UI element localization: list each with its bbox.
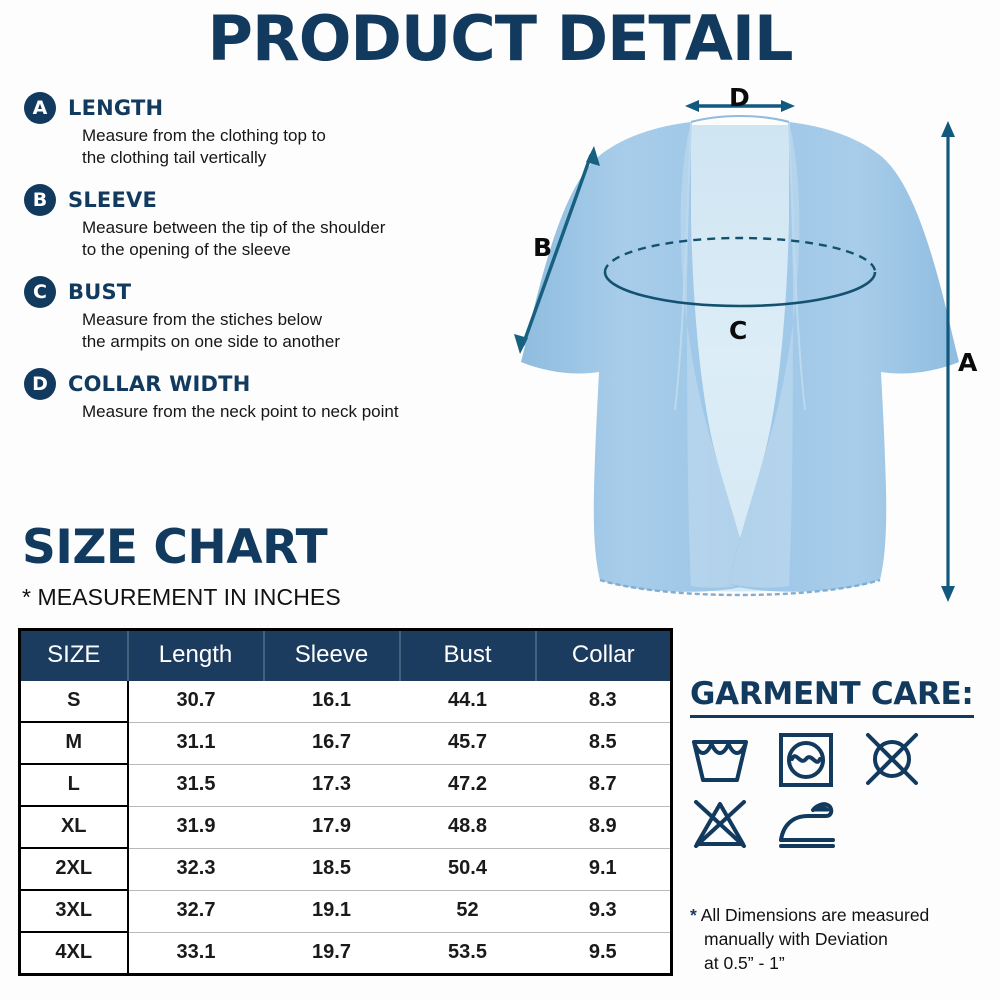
cell-length: 31.9 xyxy=(128,806,264,848)
table-row: L 31.5 17.3 47.2 8.7 xyxy=(20,764,672,806)
cell-length: 32.3 xyxy=(128,848,264,890)
table-row: M 31.1 16.7 45.7 8.5 xyxy=(20,722,672,764)
cell-collar: 9.5 xyxy=(536,932,672,975)
legend-badge-c: C xyxy=(24,276,56,308)
legend-desc-length: Measure from the clothing top to the clo… xyxy=(82,125,494,170)
neckline xyxy=(691,116,789,122)
table-row: S 30.7 16.1 44.1 8.3 xyxy=(20,681,672,722)
column-header-sleeve: Sleeve xyxy=(264,630,400,682)
legend-desc-line: Measure from the neck point to neck poin… xyxy=(82,401,494,423)
do-not-dry-clean-icon xyxy=(690,796,750,852)
legend-desc-bust: Measure from the stiches below the armpi… xyxy=(82,309,494,354)
dimension-label-a: A xyxy=(958,348,977,377)
legend-label-collar-width: COLLAR WIDTH xyxy=(68,368,494,400)
cell-length: 30.7 xyxy=(128,681,264,722)
iron-icon xyxy=(776,796,836,852)
column-header-bust: Bust xyxy=(400,630,536,682)
cell-size: M xyxy=(20,722,128,764)
legend-badge-b: B xyxy=(24,184,56,216)
hand-wash-icon xyxy=(690,732,750,788)
size-chart-title: SIZE CHART xyxy=(22,524,327,571)
care-icon-row-1 xyxy=(690,732,990,788)
dimension-label-d: D xyxy=(729,83,750,112)
cell-bust: 45.7 xyxy=(400,722,536,764)
table-header-row: SIZE Length Sleeve Bust Collar xyxy=(20,630,672,682)
note-line-1: All Dimensions are measured xyxy=(701,905,930,925)
cell-bust: 53.5 xyxy=(400,932,536,975)
table-row: 2XL 32.3 18.5 50.4 9.1 xyxy=(20,848,672,890)
legend-desc-sleeve: Measure between the tip of the shoulder … xyxy=(82,217,494,262)
legend-desc-line: the armpits on one side to another xyxy=(82,331,494,353)
cell-size: 4XL xyxy=(20,932,128,975)
cell-bust: 48.8 xyxy=(400,806,536,848)
cell-collar: 8.7 xyxy=(536,764,672,806)
garment-illustration xyxy=(495,80,1000,625)
cell-bust: 50.4 xyxy=(400,848,536,890)
legend-item-sleeve: B SLEEVE Measure between the tip of the … xyxy=(24,184,494,262)
cell-bust: 44.1 xyxy=(400,681,536,722)
cell-length: 33.1 xyxy=(128,932,264,975)
dimension-label-c: C xyxy=(729,316,747,345)
note-line-3: at 0.5” - 1” xyxy=(690,952,995,976)
legend-item-length: A LENGTH Measure from the clothing top t… xyxy=(24,92,494,170)
cell-sleeve: 18.5 xyxy=(264,848,400,890)
cell-bust: 47.2 xyxy=(400,764,536,806)
cell-size: 3XL xyxy=(20,890,128,932)
cell-sleeve: 19.7 xyxy=(264,932,400,975)
legend-desc-collar-width: Measure from the neck point to neck poin… xyxy=(82,401,494,423)
cell-sleeve: 19.1 xyxy=(264,890,400,932)
size-chart-subtitle: * MEASUREMENT IN INCHES xyxy=(22,584,341,611)
legend-label-bust: BUST xyxy=(68,276,494,308)
garment-care-title: GARMENT CARE: xyxy=(690,676,974,718)
legend-item-bust: C BUST Measure from the stiches below th… xyxy=(24,276,494,354)
legend-desc-line: Measure from the clothing top to xyxy=(82,125,494,147)
page-title: PRODUCT DETAIL xyxy=(0,8,1000,70)
table-row: 3XL 32.7 19.1 52 9.3 xyxy=(20,890,672,932)
legend-item-collar-width: D COLLAR WIDTH Measure from the neck poi… xyxy=(24,368,494,423)
cell-size: 2XL xyxy=(20,848,128,890)
cell-collar: 9.3 xyxy=(536,890,672,932)
kimono-diagram xyxy=(495,80,1000,625)
cell-size: L xyxy=(20,764,128,806)
legend-desc-line: to the opening of the sleeve xyxy=(82,239,494,261)
legend-label-length: LENGTH xyxy=(68,92,494,124)
measurement-legend: A LENGTH Measure from the clothing top t… xyxy=(24,92,494,437)
cell-collar: 8.5 xyxy=(536,722,672,764)
care-icon-row-2 xyxy=(690,796,990,852)
column-header-length: Length xyxy=(128,630,264,682)
do-not-bleach-icon xyxy=(862,732,922,788)
note-asterisk: * xyxy=(690,905,697,925)
cell-length: 31.5 xyxy=(128,764,264,806)
note-line-2: manually with Deviation xyxy=(690,928,995,952)
cell-size: XL xyxy=(20,806,128,848)
deviation-note: * All Dimensions are measured manually w… xyxy=(690,904,995,975)
legend-desc-line: Measure from the stiches below xyxy=(82,309,494,331)
cell-length: 31.1 xyxy=(128,722,264,764)
table-row: XL 31.9 17.9 48.8 8.9 xyxy=(20,806,672,848)
table-row: 4XL 33.1 19.7 53.5 9.5 xyxy=(20,932,672,975)
cell-sleeve: 17.9 xyxy=(264,806,400,848)
cell-length: 32.7 xyxy=(128,890,264,932)
cell-collar: 8.3 xyxy=(536,681,672,722)
cell-collar: 9.1 xyxy=(536,848,672,890)
cell-sleeve: 17.3 xyxy=(264,764,400,806)
cell-size: S xyxy=(20,681,128,722)
legend-label-sleeve: SLEEVE xyxy=(68,184,494,216)
legend-badge-d: D xyxy=(24,368,56,400)
garment-care-icons xyxy=(690,732,990,852)
legend-badge-a: A xyxy=(24,92,56,124)
cell-collar: 8.9 xyxy=(536,806,672,848)
size-chart-table: SIZE Length Sleeve Bust Collar S 30.7 16… xyxy=(18,628,673,976)
garment-care-section: GARMENT CARE: xyxy=(690,676,990,860)
dimension-label-b: B xyxy=(533,233,552,262)
legend-desc-line: the clothing tail vertically xyxy=(82,147,494,169)
care-icon-placeholder xyxy=(862,796,922,852)
legend-desc-line: Measure between the tip of the shoulder xyxy=(82,217,494,239)
tumble-dry-icon xyxy=(776,732,836,788)
cell-bust: 52 xyxy=(400,890,536,932)
column-header-collar: Collar xyxy=(536,630,672,682)
cell-sleeve: 16.7 xyxy=(264,722,400,764)
cell-sleeve: 16.1 xyxy=(264,681,400,722)
product-detail-page: PRODUCT DETAIL A LENGTH Measure from the… xyxy=(0,0,1000,1000)
column-header-size: SIZE xyxy=(20,630,128,682)
